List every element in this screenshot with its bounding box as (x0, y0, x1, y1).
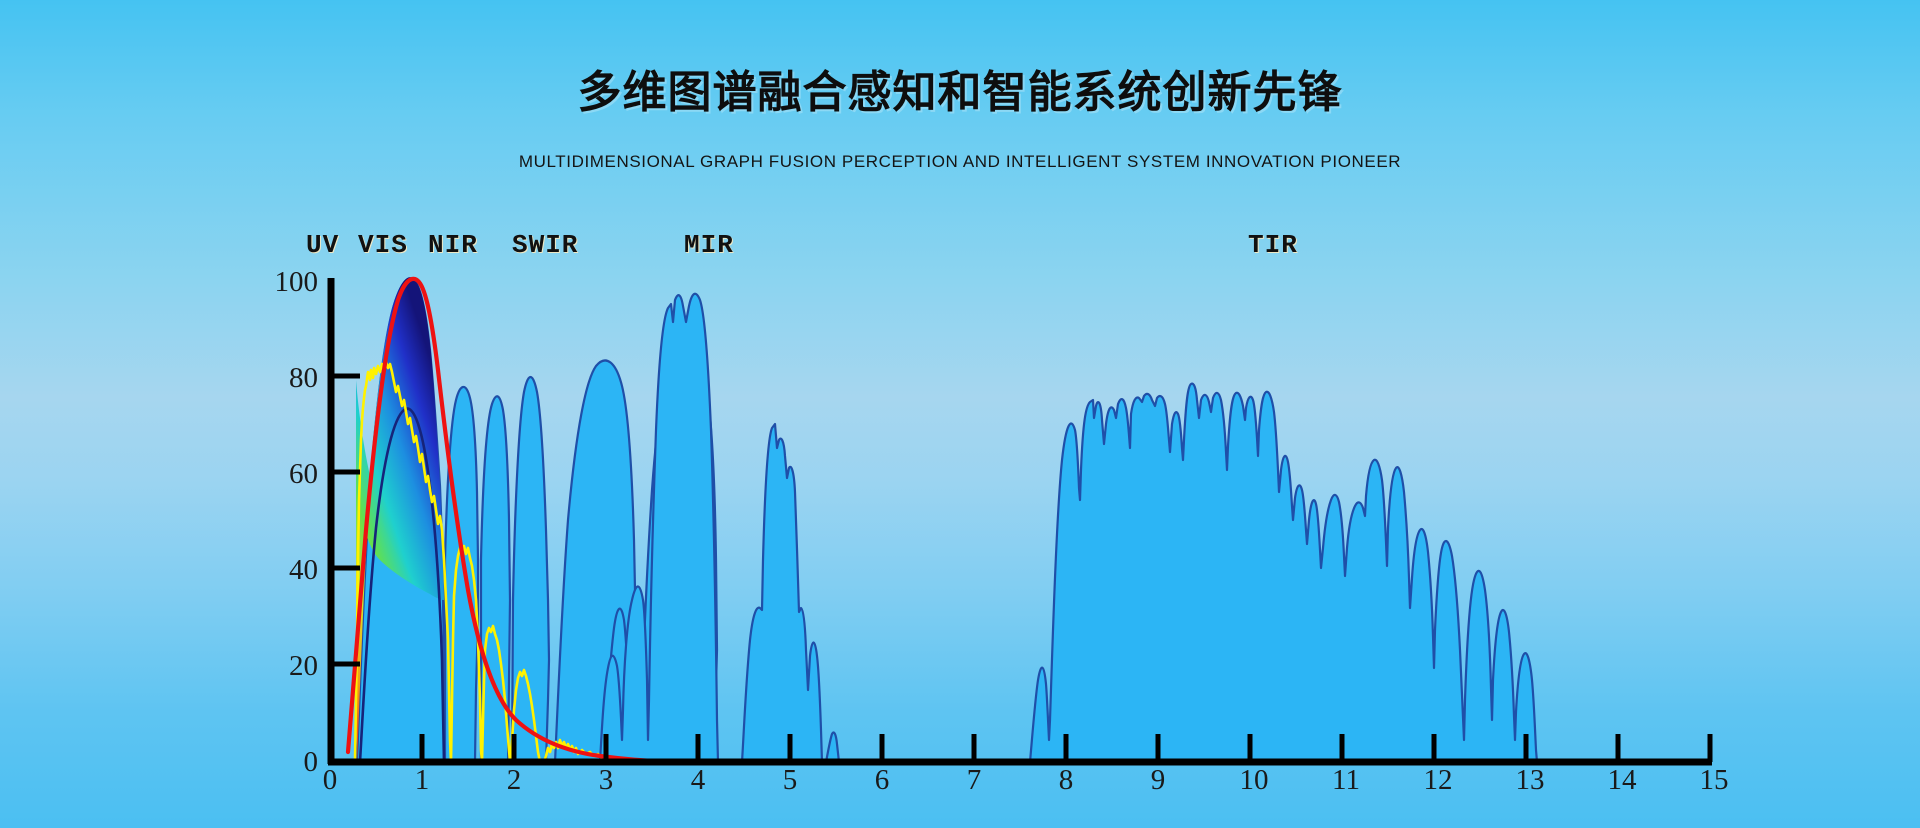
transmittance-path-mir-secondary (742, 424, 822, 762)
transmittance-path-tir (1030, 384, 1537, 762)
transmittance-area (357, 278, 1537, 762)
spectral-transmittance-chart (0, 0, 1920, 828)
transmittance-path-mir-tail (826, 732, 839, 762)
banner-root: 多维图谱融合感知和智能系统创新先锋 MULTIDIMENSIONAL GRAPH… (0, 0, 1920, 828)
